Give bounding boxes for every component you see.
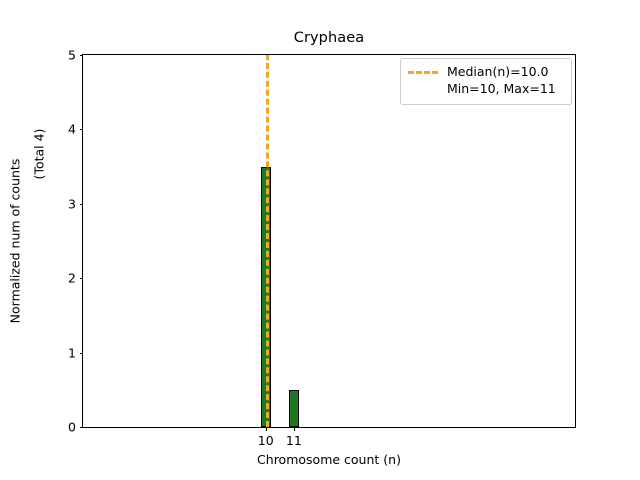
- legend-item-minmax: Min=10, Max=11: [408, 81, 564, 98]
- x-tick-label: 11: [286, 433, 302, 448]
- plot-area: 0123451011: [82, 54, 576, 428]
- x-tick-mark: [294, 427, 295, 431]
- y-tick-mark: [80, 55, 84, 56]
- chart-figure: Cryphaea 0123451011 Normalized num of co…: [0, 0, 640, 480]
- y-tick-mark: [80, 427, 84, 428]
- dashed-line-icon: [408, 71, 438, 74]
- x-tick-label: 10: [258, 433, 274, 448]
- y-tick-mark: [80, 353, 84, 354]
- plot-inner: [83, 55, 575, 427]
- bar: [289, 390, 299, 427]
- y-axis-total-wrap: (Total 4): [24, 54, 54, 254]
- y-axis-label: Normalized num of counts: [8, 159, 23, 324]
- y-tick-label: 5: [68, 48, 76, 63]
- y-tick-label: 2: [68, 271, 76, 286]
- y-tick-label: 0: [68, 420, 76, 435]
- y-tick-label: 1: [68, 345, 76, 360]
- y-axis-total-label: (Total 4): [32, 129, 47, 180]
- y-tick-mark: [80, 129, 84, 130]
- chart-title: Cryphaea: [82, 30, 576, 46]
- median-line: [266, 55, 269, 427]
- x-tick-mark: [266, 427, 267, 431]
- legend-label-minmax: Min=10, Max=11: [447, 81, 556, 98]
- y-tick-mark: [80, 278, 84, 279]
- y-tick-mark: [80, 204, 84, 205]
- legend: Median(n)=10.0 Min=10, Max=11: [400, 58, 572, 105]
- y-tick-label: 4: [68, 122, 76, 137]
- x-axis-label: Chromosome count (n): [82, 452, 576, 467]
- legend-label-median: Median(n)=10.0: [447, 64, 548, 81]
- legend-item-median: Median(n)=10.0: [408, 64, 564, 81]
- y-tick-label: 3: [68, 196, 76, 211]
